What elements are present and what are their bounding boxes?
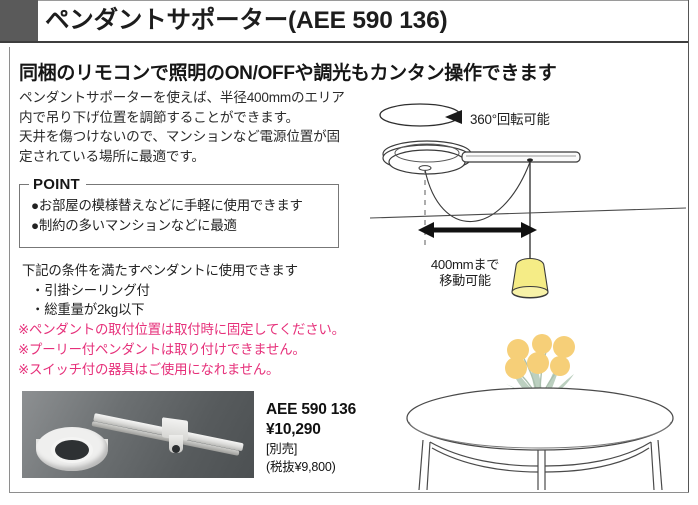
body-copy: ペンダントサポーターを使えば、半径400mmのエリア 内で吊り下げ位置を調節する… [19,88,351,166]
move-distance-label: 400mmまで 移動可能 [406,257,524,289]
body-line: ペンダントサポーターを使えば、半径400mmのエリア [19,88,351,108]
lead-text: 同梱のリモコンで照明のON/OFFや調光もカンタン操作できます [19,58,419,85]
content-bottom-border [9,492,689,493]
table-scene-illustration [392,330,688,492]
flower-heads [505,334,575,379]
room-horizon-line [370,208,686,218]
table-leg-right-outer [651,442,654,490]
warning-line: ※ペンダントの取付位置は取付時に固定してください。 [18,320,368,340]
point-list-item: ●制約の多いマンションなどに最適 [31,216,331,236]
conditions-block: 下記の条件を満たすペンダントに使用できます ・引掛シーリング付 ・総重量が2kg… [22,261,352,320]
warning-line: ※スイッチ付の器具はご使用になれません。 [18,360,368,380]
page-title: ペンダントサポーター(AEE 590 136) [45,3,665,39]
content-right-border [688,0,689,493]
rotation-ellipse [380,104,460,126]
warning-block: ※ペンダントの取付位置は取付時に固定してください。 ※プーリー付ペンダントは取り… [18,320,368,380]
point-list-item: ●お部屋の模様替えなどに手軽に使用できます [31,196,331,216]
conditions-heading: 下記の条件を満たすペンダントに使用できます [22,261,352,281]
rotation-arrow-icon [445,110,462,124]
catalog-page: ペンダントサポーター(AEE 590 136) 同梱のリモコンで照明のON/OF… [0,0,698,505]
table-leg-right-inner [658,440,662,490]
conditions-item: ・総重量が2kg以下 [22,300,352,320]
header-gray-block [0,0,38,41]
move-distance-line2: 移動可能 [406,273,524,289]
support-arm [462,152,580,162]
table-edge [407,418,673,450]
content-left-border [9,47,10,493]
rotation-range-diagram: 360°回転可能 400mmまで 移動可能 [370,90,686,315]
point-box-label: POINT [29,176,86,193]
table-apron-left-lower [432,448,538,472]
header-underline [0,41,689,43]
sold-separately: [別売] [266,440,406,458]
rotate-label: 360°回転可能 [470,108,550,128]
product-code: AEE 590 136 [266,400,406,420]
product-mount-hole [55,440,89,460]
distance-arrow-left-icon [418,222,434,238]
move-distance-line1: 400mmまで [406,257,524,273]
table-scene-svg [392,330,688,492]
price-block: AEE 590 136 ¥10,290 [別売] (税抜¥9,800) [266,400,406,476]
price-excluding-tax: (税抜¥9,800) [266,458,406,476]
table-leg-left-outer [419,440,423,490]
distance-arrow-right-icon [521,222,537,238]
warning-line: ※プーリー付ペンダントは取り付けできません。 [18,340,368,360]
body-line: 定されている場所に最適です。 [19,147,351,167]
table-leg-left-inner [427,442,430,490]
ceiling-outlet [419,166,431,171]
body-line: 天井を傷つけないので、マンションなど電源位置が固 [19,127,351,147]
point-list: ●お部屋の模様替えなどに手軽に使用できます ●制約の多いマンションなどに最適 [31,196,331,236]
conditions-item: ・引掛シーリング付 [22,281,352,301]
product-price: ¥10,290 [266,420,406,440]
page-top-border [0,0,689,1]
body-line: 内で吊り下げ位置を調節することができます。 [19,108,351,128]
product-photo [22,391,254,478]
product-socket-hole [172,445,180,453]
